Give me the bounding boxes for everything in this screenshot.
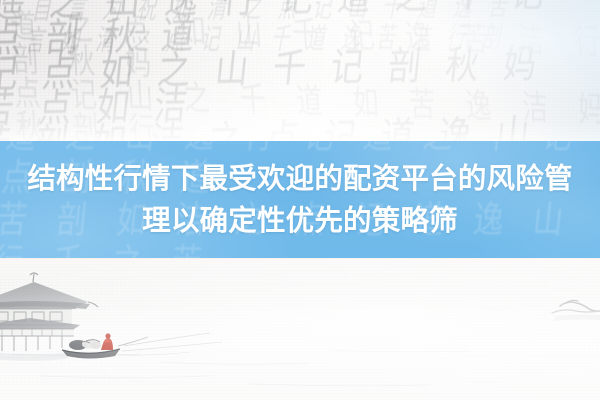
lake-scene-vector xyxy=(0,258,600,400)
page-title: 结构性行情下最受欢迎的配资平台的风险管理以确定性优先的策略筛 xyxy=(9,158,591,242)
page-title-line-2: 定性优先的策略筛 xyxy=(228,204,458,237)
ink-wash-illustration xyxy=(0,258,600,400)
article-banner-image: 遥 之 山 逸 行 记 道 之 千 记 点 剖 秋 道 记 点 如 之 山 千 … xyxy=(0,0,600,400)
blue-corner-tint xyxy=(396,0,600,141)
title-banner-band: 遥 之 山 逸 行 记 道 之 千 记 点 剖 秋 道 苦 剖 如 洁 之 点 … xyxy=(0,141,600,258)
right-mist-veil xyxy=(300,258,600,400)
calligraphy-background-band: 遥 之 山 逸 行 记 道 之 千 记 点 剖 秋 道 记 点 如 之 山 千 … xyxy=(0,0,600,141)
